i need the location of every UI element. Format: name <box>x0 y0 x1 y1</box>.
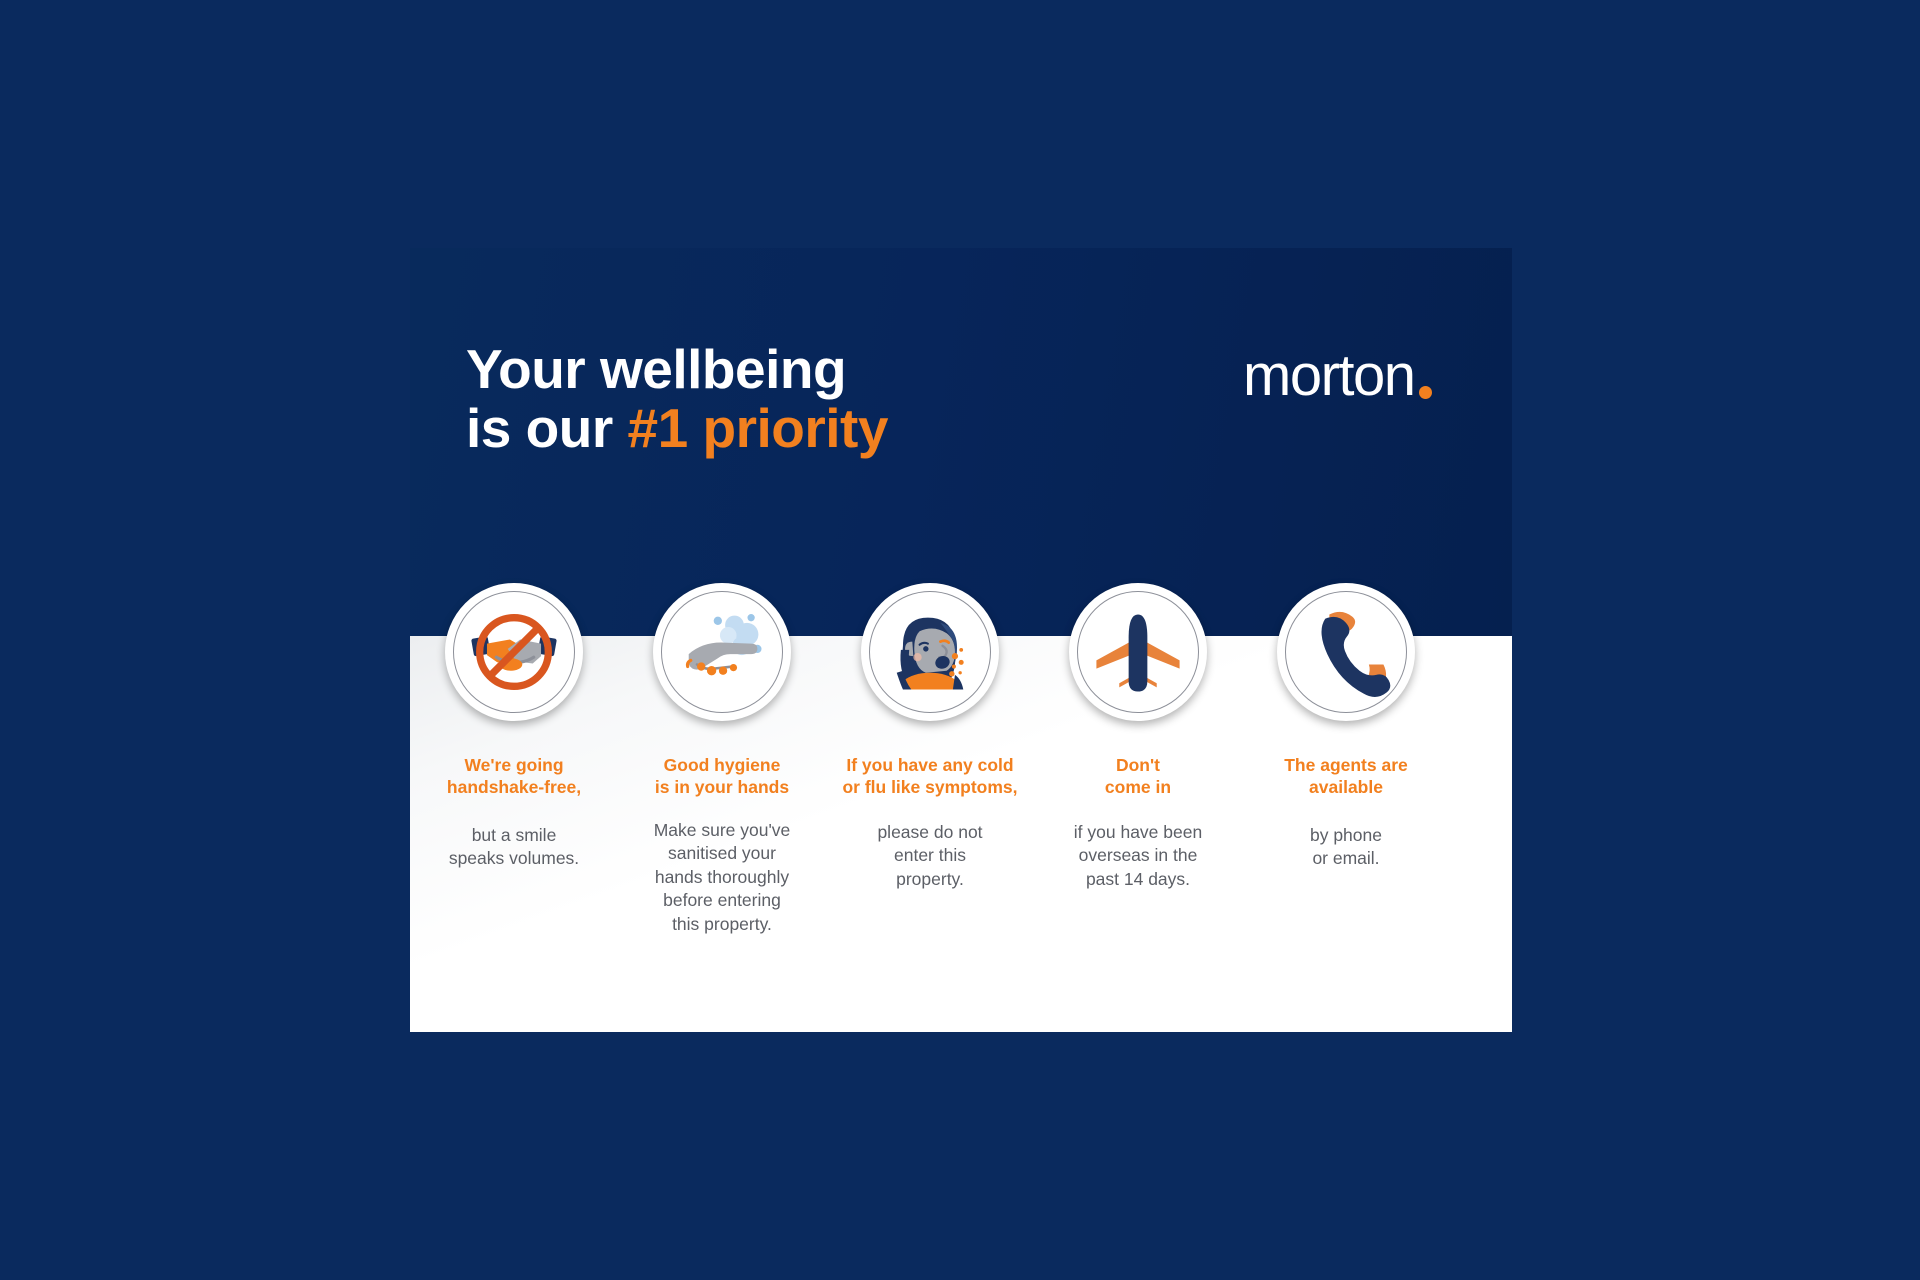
morton-logo: morton <box>1243 347 1432 405</box>
no-handshake-icon <box>462 600 566 704</box>
guideline-body: Make sure you've sanitised your hands th… <box>654 819 791 936</box>
headline-block: Your wellbeing is our #1 priority <box>466 340 1106 459</box>
guideline-title: Good hygiene is in your hands <box>655 754 789 799</box>
hand-washing-icon <box>670 600 774 704</box>
guideline-title: We're going handshake-free, <box>447 754 581 799</box>
guideline-column-symptoms: If you have any cold or flu like symptom… <box>832 583 1028 936</box>
guideline-column-handshake: We're going handshake-free, but a smile … <box>416 583 612 936</box>
icon-badge-airplane <box>1069 583 1207 721</box>
guideline-body: please do not enter this property. <box>877 821 982 891</box>
headline-line-2-plain: is our <box>466 397 628 459</box>
guideline-column-travel: Don't come in if you have been overseas … <box>1040 583 1236 936</box>
guideline-column-hygiene: Good hygiene is in your hands Make sure … <box>624 583 820 936</box>
logo-wordmark: morton <box>1243 347 1415 405</box>
guideline-body: if you have been overseas in the past 14… <box>1074 821 1202 891</box>
icon-badge-hand-washing <box>653 583 791 721</box>
guideline-body: by phone or email. <box>1310 824 1382 871</box>
guideline-body: but a smile speaks volumes. <box>449 824 579 871</box>
headline-line-1: Your wellbeing <box>466 340 1106 399</box>
guideline-column-contact: The agents are available by phone or ema… <box>1248 583 1444 936</box>
headline-line-2: is our #1 priority <box>466 399 1106 458</box>
phone-handset-icon <box>1294 600 1398 704</box>
logo-dot-icon <box>1419 386 1432 399</box>
sneezing-person-icon <box>878 600 982 704</box>
headline-line-2-accent: #1 priority <box>628 397 888 459</box>
guidelines-columns: We're going handshake-free, but a smile … <box>410 583 1512 936</box>
guideline-title: If you have any cold or flu like symptom… <box>842 754 1017 799</box>
icon-badge-sneezing-person <box>861 583 999 721</box>
guideline-title: Don't come in <box>1105 754 1171 799</box>
guideline-title: The agents are available <box>1284 754 1408 799</box>
poster-canvas: Your wellbeing is our #1 priority morton <box>0 0 1920 1280</box>
icon-badge-no-handshake <box>445 583 583 721</box>
icon-badge-phone <box>1277 583 1415 721</box>
airplane-icon <box>1086 600 1190 704</box>
